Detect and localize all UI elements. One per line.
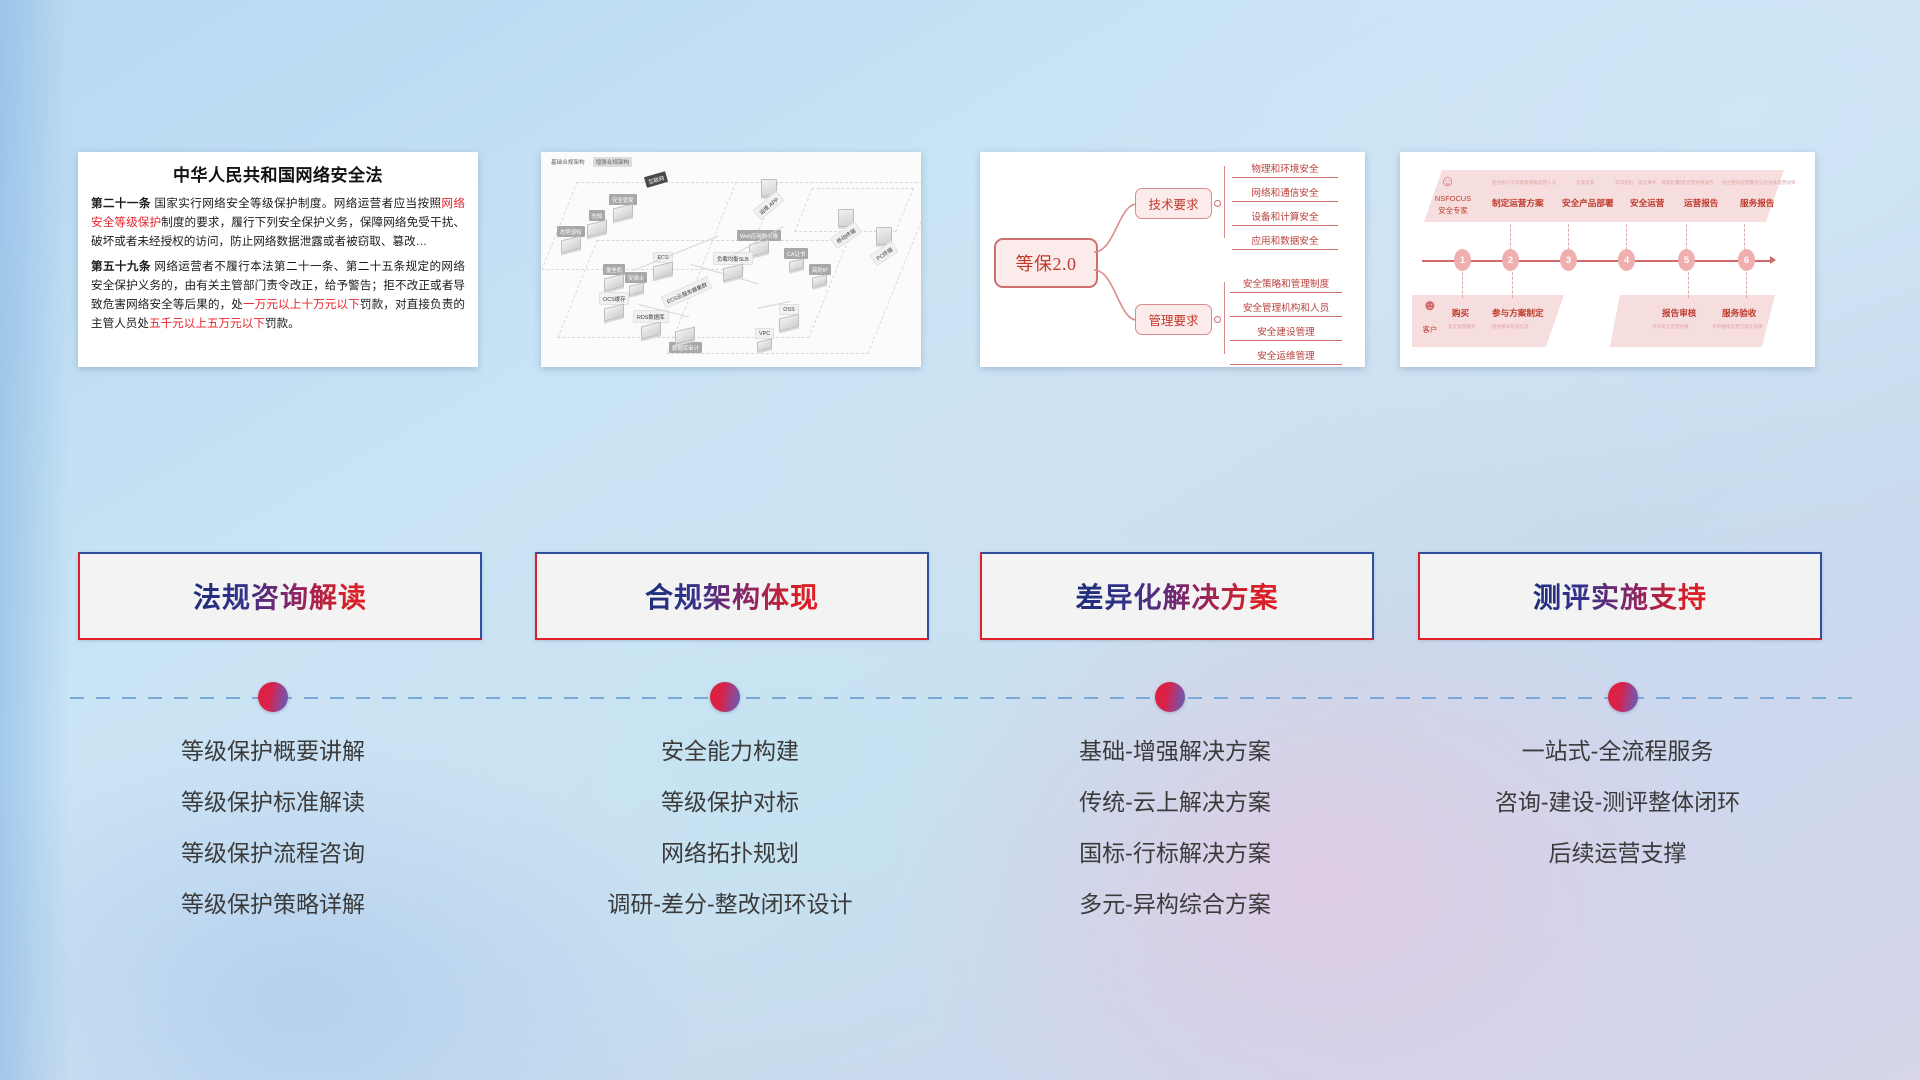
list-item: 等级保护标准解读 [73,791,473,814]
list-item: 安全能力构建 [530,740,930,763]
section-title-box-4[interactable]: 测评实施支持 [1418,552,1822,640]
list-item: 多元-异构综合方案 [975,893,1375,916]
list-item: 后续运营支撑 [1415,842,1820,865]
list-item: 等级保护流程咨询 [73,842,473,865]
detail-list-2: 安全能力构建 等级保护对标 网络拓扑规划 调研-差分-整改闭环设计 [530,740,930,944]
list-item: 等级保护对标 [530,791,930,814]
detail-list-1: 等级保护概要讲解 等级保护标准解读 等级保护流程咨询 等级保护策略详解 [73,740,473,944]
detail-list-4: 一站式-全流程服务 咨询-建设-测评整体闭环 后续运营支撑 [1415,740,1820,893]
section-title-box-2[interactable]: 合规架构体现 [535,552,929,640]
detail-list-3: 基础-增强解决方案 传统-云上解决方案 国标-行标解决方案 多元-异构综合方案 [975,740,1375,944]
section-title-label-4: 测评实施支持 [1533,576,1707,616]
section-title-label-2: 合规架构体现 [645,576,819,616]
list-item: 等级保护概要讲解 [73,740,473,763]
list-item: 国标-行标解决方案 [975,842,1375,865]
section-title-box-3[interactable]: 差异化解决方案 [980,552,1374,640]
section-title-box-1[interactable]: 法规咨询解读 [78,552,482,640]
list-item: 一站式-全流程服务 [1415,740,1820,763]
list-item: 调研-差分-整改闭环设计 [530,893,930,916]
list-item: 传统-云上解决方案 [975,791,1375,814]
list-item: 咨询-建设-测评整体闭环 [1415,791,1820,814]
list-item: 网络拓扑规划 [530,842,930,865]
list-item: 等级保护策略详解 [73,893,473,916]
timeline-marker-4[interactable] [1608,682,1638,712]
timeline-marker-1[interactable] [258,682,288,712]
section-title-label-1: 法规咨询解读 [193,576,367,616]
timeline-marker-2[interactable] [710,682,740,712]
list-item: 基础-增强解决方案 [975,740,1375,763]
section-title-label-3: 差异化解决方案 [1075,576,1278,616]
timeline-dashed-line [70,697,1855,699]
timeline-marker-3[interactable] [1155,682,1185,712]
